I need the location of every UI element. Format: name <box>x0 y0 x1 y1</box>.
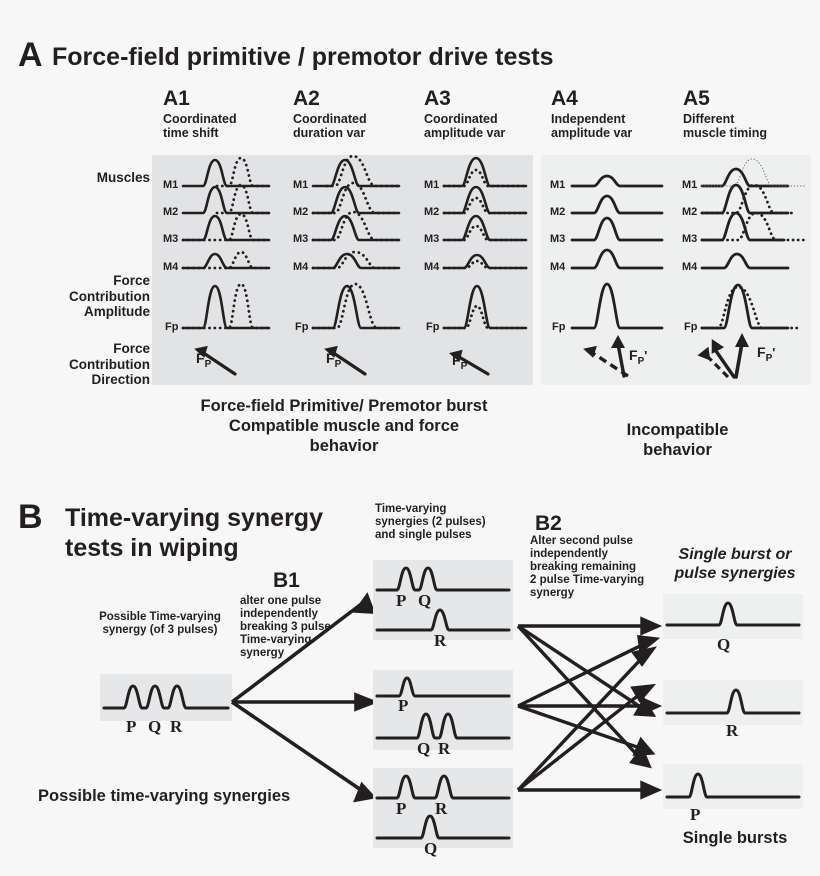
panel-b2-letter: B2 <box>535 513 562 535</box>
panel-b-mid-box-1-bottom-r: R <box>434 632 446 649</box>
panel-a-caption-compatible: Force-field Primitive/ Premotor burst Co… <box>148 396 540 456</box>
a5-label-m4: M4 <box>682 262 697 273</box>
a1-fp-letter: F <box>196 350 205 366</box>
a4-fp-prime: ' <box>644 348 647 363</box>
panel-b-right-box-1-label: Q <box>717 636 730 653</box>
col-a5-header: A5 Different muscle timing <box>683 88 767 140</box>
panel-b-right-box-3-trace <box>663 764 803 809</box>
a3-label-m3: M3 <box>424 234 439 245</box>
a2-fp-letter: F <box>326 350 335 366</box>
a2-force-vector-label: FP <box>326 350 341 372</box>
a1-label-m3: M3 <box>163 234 178 245</box>
a3-force-vector-label: FP <box>452 352 467 374</box>
a1-label-m1: M1 <box>163 180 178 191</box>
col-a3-caption: Coordinated amplitude var <box>424 113 505 140</box>
col-a3-letter: A3 <box>424 88 505 110</box>
panel-b-source-caption: Possible Time-varying synergy (of 3 puls… <box>80 611 240 637</box>
col-a1-caption: Coordinated time shift <box>163 113 237 140</box>
row-label-force-direction: Force Contribution Direction <box>10 341 150 388</box>
a3-label-fp: Fp <box>426 322 439 333</box>
panel-b-source-label-r: R <box>170 718 182 735</box>
col-a2-letter: A2 <box>293 88 367 110</box>
a1-fp-sub: P <box>205 359 212 370</box>
col-a4-letter: A4 <box>551 88 632 110</box>
col-a5-caption: Different muscle timing <box>683 113 767 140</box>
col-a4-header: A4 Independent amplitude var <box>551 88 632 140</box>
col-a2-caption: Coordinated duration var <box>293 113 367 140</box>
row-label-force-amplitude: Force Contribution Amplitude <box>10 273 150 320</box>
a3-label-m1: M1 <box>424 180 439 191</box>
panel-b-source-trace <box>100 674 232 721</box>
col-a4-caption: Independent amplitude var <box>551 113 632 140</box>
panel-b-mid-box-2-bottom-r: R <box>438 740 450 757</box>
a2-label-m1: M1 <box>293 180 308 191</box>
a5-label-m2: M2 <box>682 207 697 218</box>
panel-b-source-label-q: Q <box>148 718 161 735</box>
a2-fp-sub: P <box>335 359 342 370</box>
panel-b-mid-caption: Time-varying synergies (2 pulses) and si… <box>375 503 535 542</box>
panel-b-mid-box-3-top-r: R <box>435 800 447 817</box>
a2-label-m4: M4 <box>293 262 308 273</box>
panel-b2-arrows <box>512 598 672 818</box>
a1-label-fp: Fp <box>165 322 178 333</box>
a3-fp-sub: P <box>461 361 468 372</box>
panel-b-mid-box-1-top-q: Q <box>418 592 431 609</box>
panel-b-source-label-p: P <box>126 718 136 735</box>
panel-a-title: Force-field primitive / premotor drive t… <box>52 42 554 72</box>
panel-b1-arrows <box>228 560 378 830</box>
panel-b2-note: Alter second pulse independently breakin… <box>530 535 665 600</box>
col-a2-header: A2 Coordinated duration var <box>293 88 367 140</box>
col-a1-letter: A1 <box>163 88 237 110</box>
row-label-muscles: Muscles <box>20 170 150 186</box>
col-a3-header: A3 Coordinated amplitude var <box>424 88 505 140</box>
panel-b-mid-box-2-bottom-q: Q <box>417 740 430 757</box>
panel-b-mid-box-1-top-p: P <box>396 592 406 609</box>
a4-label-m2: M2 <box>550 207 565 218</box>
a5-label-m3: M3 <box>682 234 697 245</box>
a2-label-fp: Fp <box>295 322 308 333</box>
panel-b-mid-box-3-top-p: P <box>396 800 406 817</box>
panel-b-right-box-2-trace <box>663 680 803 725</box>
a5-label-fp: Fp <box>684 322 697 333</box>
panel-a-letter: A <box>18 38 42 72</box>
a3-label-m2: M2 <box>424 207 439 218</box>
a1-label-m4: M4 <box>163 262 178 273</box>
a4-label-fp: Fp <box>552 322 565 333</box>
a5-new-force-vector <box>735 333 749 377</box>
panel-b-right-box-1-trace <box>663 594 803 639</box>
panel-b-mid-box-1-traces <box>373 560 513 640</box>
panel-b-bottom-right-caption: Single bursts <box>655 828 815 848</box>
panel-a-caption-incompatible: Incompatible behavior <box>545 420 810 460</box>
col-a5-letter: A5 <box>683 88 767 110</box>
panel-b-mid-box-2-top-p: P <box>398 697 408 714</box>
a5-fp-letter: F <box>757 344 766 360</box>
col-a1-header: A1 Coordinated time shift <box>163 88 237 140</box>
a1-label-m2: M2 <box>163 207 178 218</box>
panel-b-right-box-3-label: P <box>690 806 700 823</box>
panel-b-mid-box-3-bottom-q: Q <box>424 840 437 857</box>
a4-label-m4: M4 <box>550 262 565 273</box>
a5-diagonal-force-vector <box>706 336 734 377</box>
panel-b-letter: B <box>18 500 42 534</box>
a4-new-force-vector <box>611 335 625 376</box>
panel-b-right-caption: Single burst or pulse synergies <box>655 545 815 583</box>
a3-label-m4: M4 <box>424 262 439 273</box>
a1-force-vector-label: FP <box>196 350 211 372</box>
a3-fp-letter: F <box>452 352 461 368</box>
a4-fp-letter: F <box>629 347 638 363</box>
panel-b-right-box-2-label: R <box>726 722 738 739</box>
a5-label-m1: M1 <box>682 180 697 191</box>
a4-label-m1: M1 <box>550 180 565 191</box>
a4-force-prime-label: FP' <box>629 347 647 369</box>
panel-b-title: Time-varying synergy tests in wiping <box>65 503 355 563</box>
a5-force-prime-label: FP' <box>757 344 775 366</box>
a2-label-m2: M2 <box>293 207 308 218</box>
a5-fp-prime: ' <box>772 345 775 360</box>
panel-b-mid-box-2-traces <box>373 670 513 750</box>
a4-label-m3: M3 <box>550 234 565 245</box>
a2-label-m3: M3 <box>293 234 308 245</box>
